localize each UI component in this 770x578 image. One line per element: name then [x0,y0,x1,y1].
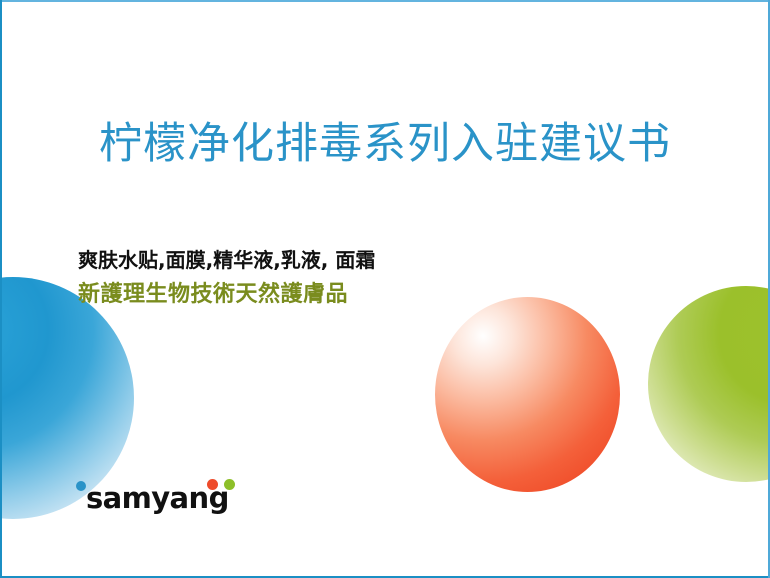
subtitle-block: 爽肤水贴,面膜,精华液,乳液, 面霜 新護理生物技術天然護膚品 [78,250,375,306]
subtitle-product-list: 爽肤水贴,面膜,精华液,乳液, 面霜 [78,250,375,270]
logo-wordmark: samyang [86,484,229,513]
logo-dot-blue-icon [76,481,86,491]
subtitle-tagline: 新護理生物技術天然護膚品 [78,284,375,306]
slide-border-top [0,0,770,2]
decor-sphere-orange [435,297,620,492]
slide-border-left [0,0,2,578]
logo-dot-green-icon [224,479,235,490]
logo-dot-orange-icon [207,479,218,490]
slide-title: 柠檬净化排毒系列入驻建议书 [0,118,770,170]
slide-canvas: 柠檬净化排毒系列入驻建议书 爽肤水贴,面膜,精华液,乳液, 面霜 新護理生物技術… [0,0,770,578]
decor-sphere-green [648,286,770,482]
